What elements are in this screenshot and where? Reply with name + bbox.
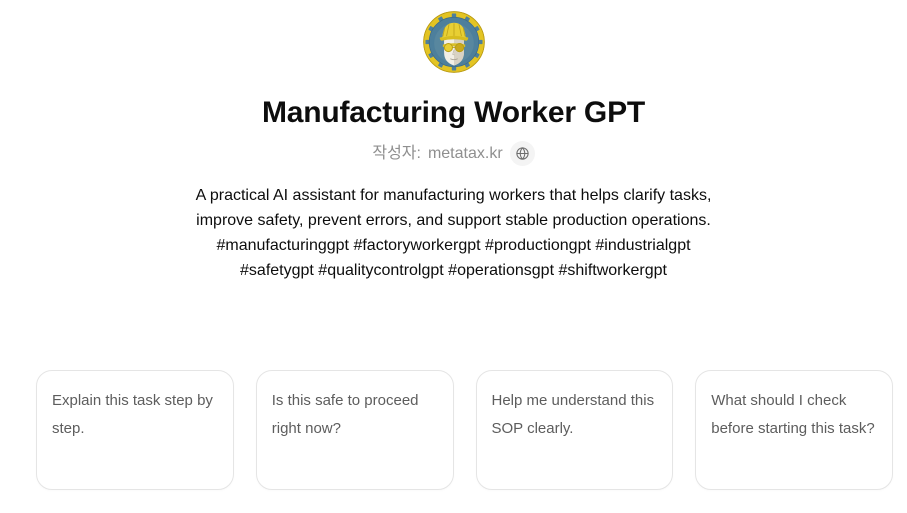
- byline-author-label: 작성자:: [372, 144, 421, 163]
- globe-icon-glyph: [515, 146, 530, 161]
- starter-card-3[interactable]: Help me understand this SOP clearly.: [476, 370, 674, 490]
- globe-icon[interactable]: [510, 141, 535, 166]
- conversation-starters: Explain this task step by step. Is this …: [36, 370, 893, 490]
- gpt-intro-screen: Manufacturing Worker GPT 작성자: metatax.kr…: [0, 0, 907, 513]
- byline-author-handle: metatax.kr: [428, 144, 503, 163]
- page-title: Manufacturing Worker GPT: [262, 96, 645, 129]
- byline: 작성자: metatax.kr: [372, 141, 534, 166]
- starter-card-2[interactable]: Is this safe to proceed right now?: [256, 370, 454, 490]
- starter-card-4[interactable]: What should I check before starting this…: [695, 370, 893, 490]
- starter-card-1[interactable]: Explain this task step by step.: [36, 370, 234, 490]
- manufacturing-worker-gear-avatar-icon: [423, 11, 485, 73]
- gpt-description: A practical AI assistant for manufacturi…: [178, 183, 730, 283]
- avatar: [423, 11, 485, 73]
